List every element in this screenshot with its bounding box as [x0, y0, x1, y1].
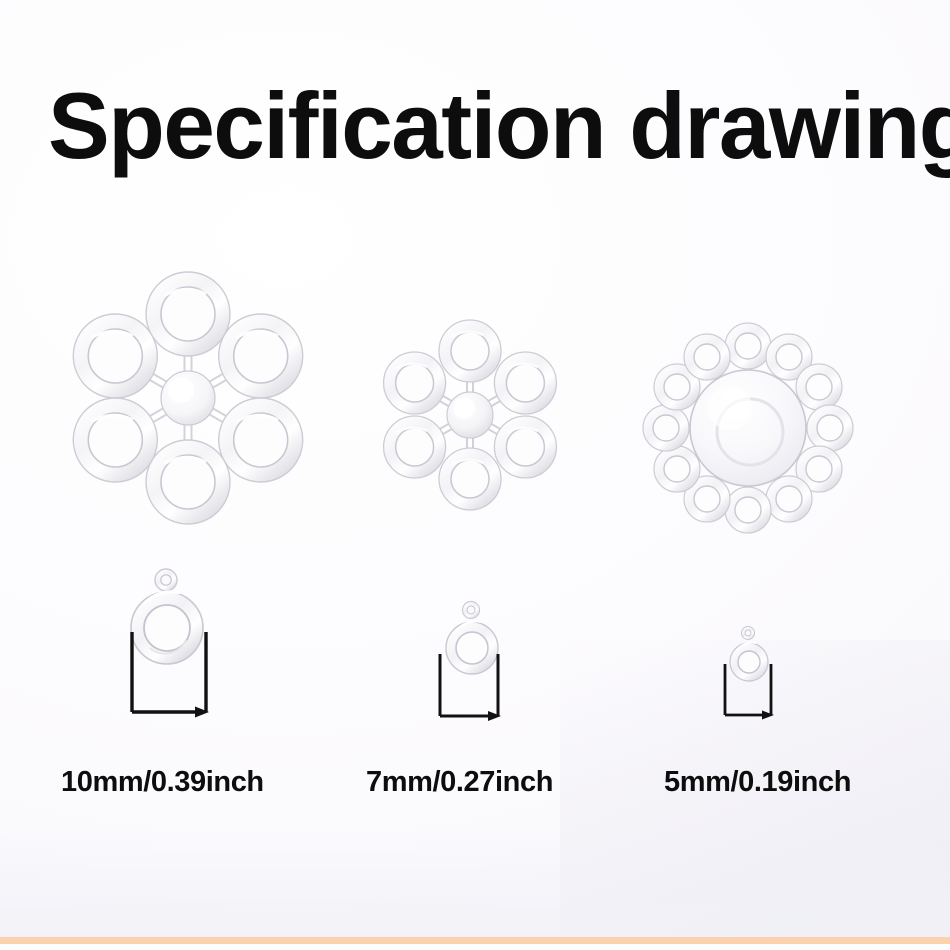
cluster-10mm-hub — [161, 371, 215, 425]
caption-7mm: 7mm/0.27inch — [366, 766, 553, 799]
page-title: Specification drawing — [48, 78, 915, 174]
cluster-7mm — [378, 323, 562, 507]
cluster-5mm-hub — [690, 370, 806, 486]
cluster-7mm-hub — [447, 392, 493, 438]
bottom-accent-strip — [0, 937, 950, 944]
bottom-white-margin — [0, 944, 950, 950]
caption-5mm: 5mm/0.19inch — [664, 766, 851, 799]
caption-10mm: 10mm/0.39inch — [61, 766, 264, 799]
cluster-10mm — [68, 278, 308, 518]
cluster-5mm — [638, 318, 858, 538]
specification-drawing-image: Specification drawing — [0, 0, 950, 950]
paper-shadow-bottom — [0, 830, 950, 942]
dimension-bracket-7mm — [437, 652, 507, 726]
dimension-bracket-10mm — [129, 630, 215, 722]
dimension-bracket-5mm — [722, 662, 780, 724]
